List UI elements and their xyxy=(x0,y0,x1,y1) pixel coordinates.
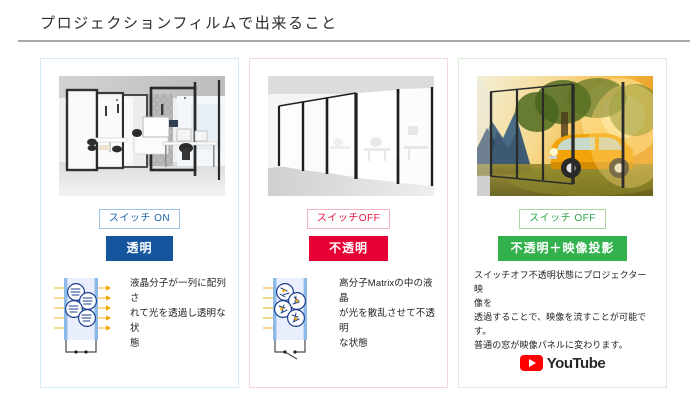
explanation-block: 高分子Matrixの中の液晶 が光を散乱させて不透明 な状態 xyxy=(255,272,442,372)
card-row: スイッチ ON 透明 xyxy=(0,58,700,390)
card-body: スイッチ OFF 不透明＋映像投影 スイッチオフ不透明状態にプロジェクター映 像… xyxy=(464,64,661,382)
card-body: スイッチOFF 不透明 xyxy=(255,64,442,382)
photo-projection-office xyxy=(477,76,653,196)
page-header: プロジェクションフィルムで出来ること xyxy=(0,0,700,48)
explanation-line: 液晶分子が一列に配列さ xyxy=(130,276,227,306)
state-button[interactable]: 不透明 xyxy=(309,236,388,261)
youtube-link[interactable]: YouTube xyxy=(464,354,661,372)
state-button[interactable]: 透明 xyxy=(106,236,172,261)
explanation-line: スイッチオフ不透明状態にプロジェクター映 xyxy=(474,268,653,296)
page-root: プロジェクションフィルムで出来ること xyxy=(0,0,700,400)
explanation-line: 高分子Matrixの中の液晶 xyxy=(339,276,436,306)
badge-row: スイッチ ON xyxy=(46,208,233,229)
explanation-line: れて光を透過し透明な状 xyxy=(130,306,227,336)
switch-state-badge: スイッチ ON xyxy=(99,209,180,229)
explanation-text: 液晶分子が一列に配列さ れて光を透過し透明な状 態 xyxy=(130,276,227,351)
diagram-aligned-molecules xyxy=(54,272,128,364)
state-button-row: 不透明 xyxy=(255,236,442,261)
explanation-line: 態 xyxy=(130,336,227,351)
explanation-line: 像を xyxy=(474,296,653,310)
card-transparent[interactable]: スイッチ ON 透明 xyxy=(40,58,239,388)
switch-state-badge: スイッチ OFF xyxy=(519,209,606,229)
state-button-row: 不透明＋映像投影 xyxy=(464,236,661,261)
explanation-line: 普通の窓が映像パネルに変わります。 xyxy=(474,338,653,352)
photo-opaque-office xyxy=(268,76,434,196)
card-projection[interactable]: スイッチ OFF 不透明＋映像投影 スイッチオフ不透明状態にプロジェクター映 像… xyxy=(458,58,667,388)
explanation-text: スイッチオフ不透明状態にプロジェクター映 像を 透過することで、映像を流すことが… xyxy=(474,268,653,352)
explanation-line: な状態 xyxy=(339,336,436,351)
badge-row: スイッチOFF xyxy=(255,208,442,229)
explanation-line: が光を散乱させて不透明 xyxy=(339,306,436,336)
explanation-line: 透過することで、映像を流すことが可能です。 xyxy=(474,310,653,338)
badge-row: スイッチ OFF xyxy=(464,208,661,229)
explanation-block: 液晶分子が一列に配列さ れて光を透過し透明な状 態 xyxy=(46,272,233,372)
card-body: スイッチ ON 透明 xyxy=(46,64,233,382)
explanation-text: 高分子Matrixの中の液晶 が光を散乱させて不透明 な状態 xyxy=(339,276,436,351)
card-opaque[interactable]: スイッチOFF 不透明 xyxy=(249,58,448,388)
state-button[interactable]: 不透明＋映像投影 xyxy=(498,236,626,261)
youtube-wordmark: YouTube xyxy=(547,355,605,372)
youtube-logo[interactable]: YouTube xyxy=(520,355,605,372)
state-button-row: 透明 xyxy=(46,236,233,261)
page-title: プロジェクションフィルムで出来ること xyxy=(40,12,338,33)
switch-state-badge: スイッチOFF xyxy=(307,209,391,229)
photo-transparent-office xyxy=(59,76,225,196)
header-divider xyxy=(18,40,690,42)
youtube-play-icon[interactable] xyxy=(520,355,543,371)
diagram-random-molecules xyxy=(263,272,337,364)
